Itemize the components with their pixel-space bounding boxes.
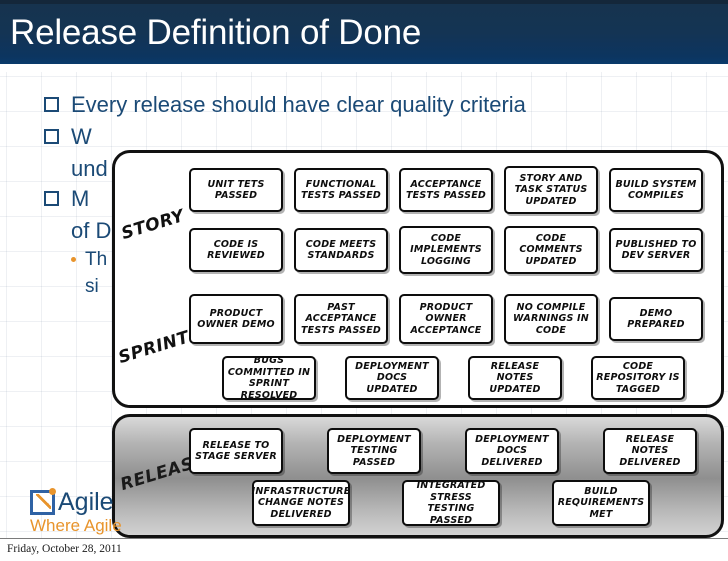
dod-card-label: PRODUCT OWNER DEMO [194,308,278,331]
dod-card[interactable]: CODE IMPLEMENTS LOGGING [399,226,493,274]
dod-card[interactable]: PAST ACCEPTANCE TESTS PASSED [294,294,388,344]
page-title: Release Definition of Done [10,13,421,53]
dod-card[interactable]: INTEGRATED STRESS TESTING PASSED [402,480,500,526]
dod-card-label: RELEASE NOTES DELIVERED [608,434,692,469]
dod-card-label: INTEGRATED STRESS TESTING PASSED [407,480,495,526]
dod-card-label: DEPLOYMENT DOCS DELIVERED [470,434,554,469]
dod-card[interactable]: CODE COMMENTS UPDATED [504,226,598,274]
dod-card[interactable]: PRODUCT OWNER ACCEPTANCE [399,294,493,344]
logo-wordmark: Agile [58,490,114,515]
sub-bullet-text: Th [85,246,107,273]
bullet-text: W [71,122,92,152]
dod-card-label: BUILD REQUIREMENTS MET [557,486,645,521]
dod-card[interactable]: BUGS COMMITTED IN SPRINT RESOLVED [222,356,316,400]
dod-card-label: ACCEPTANCE TESTS PASSED [404,179,488,202]
dod-card[interactable]: DEPLOYMENT DOCS DELIVERED [465,428,559,474]
dod-card[interactable]: DEPLOYMENT TESTING PASSED [327,428,421,474]
dod-card[interactable]: CODE REPOSITORY IS TAGGED [591,356,685,400]
bullet-item-1: Every release should have clear quality … [44,90,684,120]
dod-card[interactable]: DEPLOYMENT DOCS UPDATED [345,356,439,400]
logo-row: Agile [30,490,150,515]
square-bullet-icon [44,129,59,144]
dod-card[interactable]: INFRASTRUCTURE CHANGE NOTES DELIVERED [252,480,350,526]
dod-card[interactable]: UNIT TETS PASSED [189,168,283,212]
dod-card-label: FUNCTIONAL TESTS PASSED [299,179,383,202]
dod-card[interactable]: FUNCTIONAL TESTS PASSED [294,168,388,212]
dod-card-label: CODE COMMENTS UPDATED [509,233,593,268]
dod-card-label: PUBLISHED TO DEV SERVER [614,239,698,262]
square-bullet-icon [44,191,59,206]
dod-card-label: STORY AND TASK STATUS UPDATED [509,173,593,208]
dod-card-label: BUGS COMMITTED IN SPRINT RESOLVED [227,355,311,401]
dod-card-label: RELEASE TO STAGE SERVER [194,440,278,463]
dod-card[interactable]: CODE MEETS STANDARDS [294,228,388,272]
dod-card-label: CODE MEETS STANDARDS [299,239,383,262]
logo-tagline: Where Agile [30,516,150,536]
dod-card[interactable]: STORY AND TASK STATUS UPDATED [504,166,598,214]
bullet-item-2: W [44,122,684,152]
agile-logo: Agile Where Agile [30,490,150,536]
dod-card[interactable]: CODE IS REVIEWED [189,228,283,272]
dod-card[interactable]: ACCEPTANCE TESTS PASSED [399,168,493,212]
definition-of-done-diagram: STORY SPRINT RELEASE UNIT TETS PASSED FU… [112,150,724,538]
dod-card[interactable]: PRODUCT OWNER DEMO [189,294,283,344]
dod-card-label: UNIT TETS PASSED [194,179,278,202]
bullet-text: M [71,184,89,214]
dod-card[interactable]: PUBLISHED TO DEV SERVER [609,228,703,272]
dod-card-label: DEPLOYMENT TESTING PASSED [332,434,416,469]
dot-bullet-icon [71,257,76,262]
dod-card-label: PRODUCT OWNER ACCEPTANCE [404,302,488,337]
dod-card[interactable]: NO COMPILE WARNINGS IN CODE [504,294,598,344]
bullet-text: Every release should have clear quality … [71,90,526,120]
dod-card-label: INFRASTRUCTURE CHANGE NOTES DELIVERED [252,486,351,521]
dod-card-label: CODE REPOSITORY IS TAGGED [596,361,680,396]
square-bullet-icon [44,97,59,112]
dod-card[interactable]: RELEASE TO STAGE SERVER [189,428,283,474]
agile-chart-icon [30,490,55,515]
slide-header: Release Definition of Done [0,0,728,64]
dod-card-label: BUILD SYSTEM COMPILES [614,179,698,202]
logo-accent-dot-icon [49,488,56,495]
dod-card[interactable]: RELEASE NOTES UPDATED [468,356,562,400]
dod-card-label: DEMO PREPARED [614,308,698,331]
footer-date: Friday, October 28, 2011 [7,543,122,555]
header-underline [0,64,728,69]
footer-divider [0,538,728,539]
dod-card[interactable]: DEMO PREPARED [609,297,703,341]
dod-card-label: NO COMPILE WARNINGS IN CODE [509,302,593,337]
dod-card-label: RELEASE NOTES UPDATED [473,361,557,396]
dod-card[interactable]: RELEASE NOTES DELIVERED [603,428,697,474]
dod-card-label: PAST ACCEPTANCE TESTS PASSED [299,302,383,337]
dod-card-label: CODE IMPLEMENTS LOGGING [404,233,488,268]
dod-card[interactable]: BUILD SYSTEM COMPILES [609,168,703,212]
dod-card[interactable]: BUILD REQUIREMENTS MET [552,480,650,526]
dod-card-label: DEPLOYMENT DOCS UPDATED [350,361,434,396]
dod-card-label: CODE IS REVIEWED [194,239,278,262]
slide: Release Definition of Done Every release… [0,0,728,561]
